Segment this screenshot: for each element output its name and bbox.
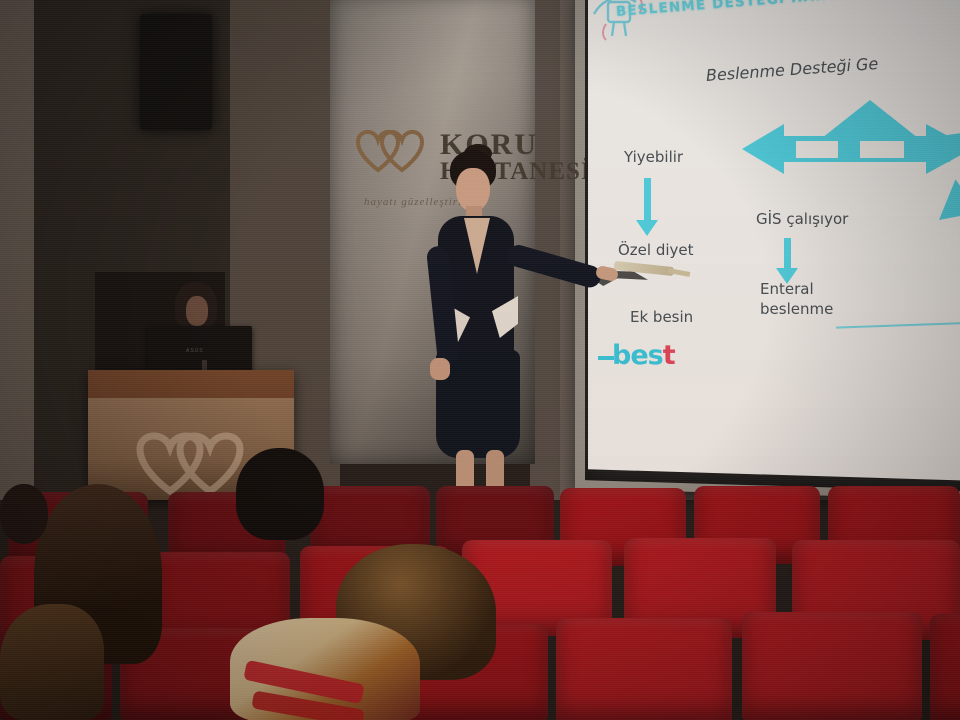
speaker-arm-right — [505, 242, 603, 290]
heart-knot-icon — [130, 425, 250, 497]
slide-node-beslenme: beslenme — [760, 300, 833, 318]
seat — [930, 614, 960, 720]
arrow-down-shaft-right — [784, 238, 791, 272]
slide-content: BESLENME DESTEĞİ HANGİ Y Beslenme Desteğ… — [588, 0, 960, 475]
slide-node-enteral: Enteral — [760, 280, 814, 298]
seat — [742, 612, 922, 720]
seat — [556, 618, 732, 720]
laptop-brand-label: ASUS — [186, 348, 204, 354]
projected-slide: BESLENME DESTEĞİ HANGİ Y Beslenme Desteğ… — [588, 0, 960, 481]
ceiling-speaker — [140, 14, 212, 130]
slide-node-gis-calisiyor: GİS çalışıyor — [756, 210, 848, 228]
slide-node-ozel-diyet: Özel diyet — [618, 241, 694, 259]
slide-title: BESLENME DESTEĞİ HANGİ Y — [615, 0, 863, 20]
arrow-down-icon-left — [636, 220, 658, 236]
wall-panel-left — [0, 0, 34, 500]
slide-node-yiyebilir: Yiyebilir — [624, 148, 683, 166]
speaker-hand-left — [430, 358, 450, 380]
slide-divider — [836, 321, 960, 328]
best-logo-accent: t — [663, 340, 675, 371]
audience-head — [0, 604, 104, 720]
presentation-photo: KORU HASTANESİ hayatı güzelleştirir BESL… — [0, 0, 960, 720]
best-logo: best — [612, 340, 675, 371]
audience-head — [0, 484, 48, 544]
seated-moderator-face — [186, 296, 208, 326]
best-logo-main: bes — [612, 340, 663, 371]
slide-subtitle: Beslenme Desteği Ge — [705, 54, 879, 85]
slide-node-ek-besin: Ek besin — [630, 308, 693, 326]
arrow-down-shaft-left — [644, 178, 651, 224]
audience-head — [236, 448, 324, 540]
